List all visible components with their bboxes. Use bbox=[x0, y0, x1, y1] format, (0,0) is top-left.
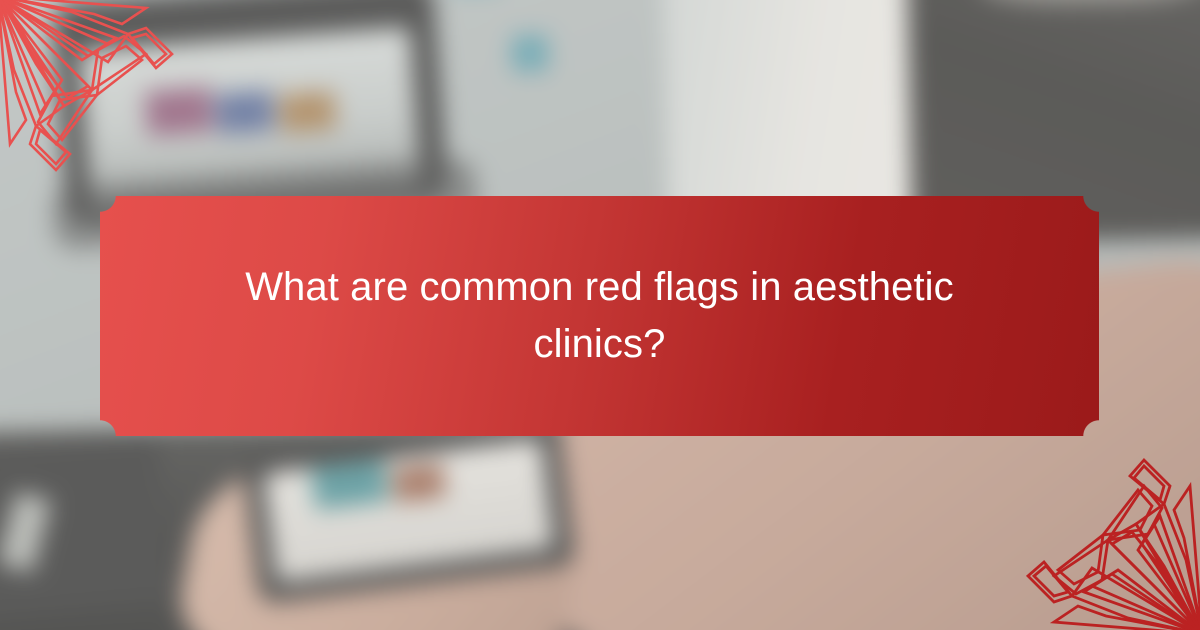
title-banner: What are common red flags in aesthetic c… bbox=[100, 196, 1099, 436]
page-title: What are common red flags in aesthetic c… bbox=[148, 259, 1052, 373]
share-card: What are common red flags in aesthetic c… bbox=[0, 0, 1200, 630]
